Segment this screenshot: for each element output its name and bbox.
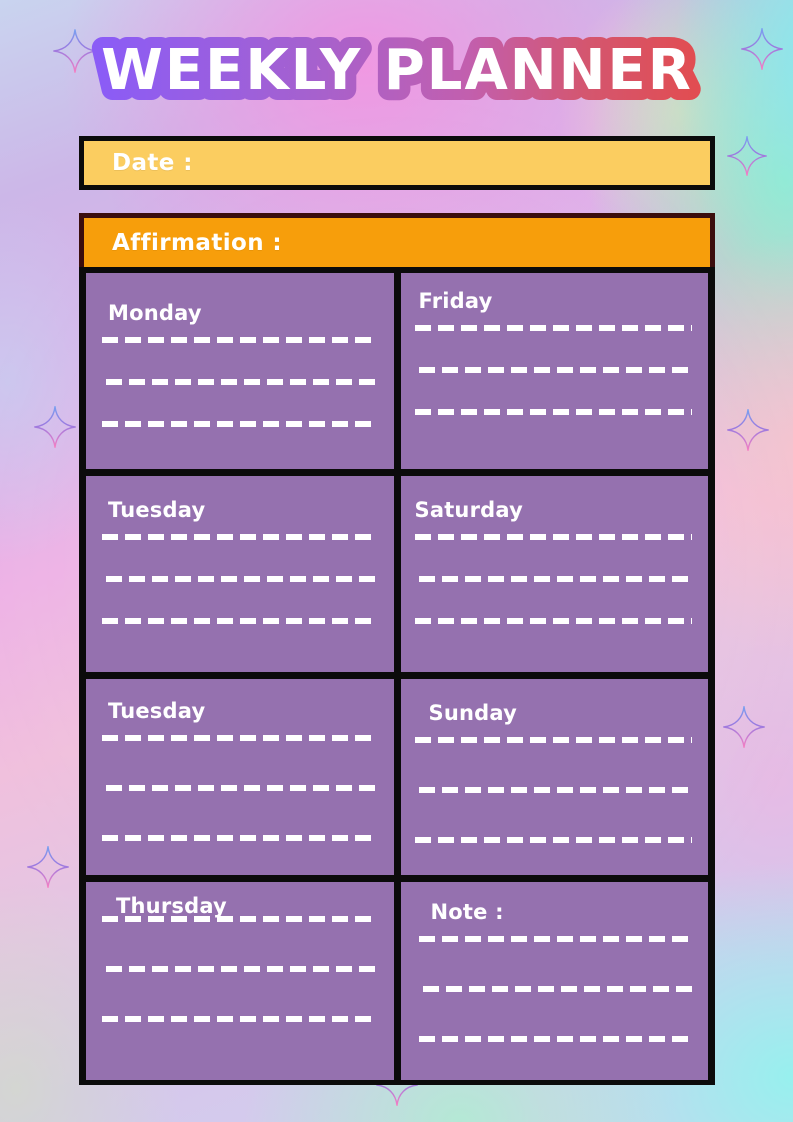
day-cell[interactable]: Sunday bbox=[401, 679, 709, 875]
page-title: WEEKLY PLANNER WEEKLY PLANNER bbox=[0, 33, 793, 115]
writing-line[interactable] bbox=[102, 916, 376, 922]
planner-sheet: Date : Affirmation : MondayFridayTuesday… bbox=[79, 136, 715, 1085]
day-cell[interactable]: Tuesday bbox=[86, 679, 394, 875]
day-cell-label: Saturday bbox=[415, 498, 524, 522]
writing-line[interactable] bbox=[415, 409, 693, 415]
day-cell-label: Tuesday bbox=[108, 699, 205, 723]
writing-line[interactable] bbox=[106, 785, 376, 791]
writing-line[interactable] bbox=[102, 735, 376, 741]
writing-line[interactable] bbox=[106, 379, 376, 385]
writing-line[interactable] bbox=[415, 837, 693, 843]
day-cell-label: Sunday bbox=[429, 701, 517, 725]
writing-line[interactable] bbox=[102, 1016, 376, 1022]
weekly-grid: MondayFridayTuesdaySaturdayTuesdaySunday… bbox=[79, 267, 715, 1085]
writing-line[interactable] bbox=[102, 618, 376, 624]
date-field[interactable]: Date : bbox=[79, 136, 715, 190]
day-cell-label: Tuesday bbox=[108, 498, 205, 522]
writing-line[interactable] bbox=[102, 337, 376, 343]
writing-line[interactable] bbox=[106, 576, 376, 582]
writing-line[interactable] bbox=[102, 534, 376, 540]
day-cell[interactable]: Note : bbox=[401, 882, 709, 1080]
day-cell-label: Monday bbox=[108, 301, 202, 325]
day-cell[interactable]: Monday bbox=[86, 273, 394, 469]
writing-line[interactable] bbox=[415, 325, 693, 331]
day-cell[interactable]: Friday bbox=[401, 273, 709, 469]
writing-line[interactable] bbox=[419, 576, 693, 582]
writing-line[interactable] bbox=[419, 936, 693, 942]
affirmation-field[interactable]: Affirmation : bbox=[79, 213, 715, 267]
writing-line[interactable] bbox=[415, 618, 693, 624]
day-cell[interactable]: Tuesday bbox=[86, 476, 394, 672]
writing-line[interactable] bbox=[102, 835, 376, 841]
date-label: Date : bbox=[112, 150, 193, 176]
writing-line[interactable] bbox=[415, 737, 693, 743]
page-title-fill: WEEKLY PLANNER bbox=[101, 38, 693, 103]
writing-line[interactable] bbox=[106, 966, 376, 972]
writing-line[interactable] bbox=[419, 367, 693, 373]
day-cell-label: Thursday bbox=[116, 894, 227, 918]
affirmation-label: Affirmation : bbox=[112, 230, 282, 256]
day-cell[interactable]: Thursday bbox=[86, 882, 394, 1080]
writing-line[interactable] bbox=[423, 986, 693, 992]
writing-line[interactable] bbox=[419, 1036, 693, 1042]
writing-line[interactable] bbox=[102, 421, 376, 427]
day-cell-label: Friday bbox=[419, 289, 493, 313]
writing-line[interactable] bbox=[419, 787, 693, 793]
day-cell-label: Note : bbox=[431, 900, 504, 924]
writing-line[interactable] bbox=[415, 534, 693, 540]
day-cell[interactable]: Saturday bbox=[401, 476, 709, 672]
